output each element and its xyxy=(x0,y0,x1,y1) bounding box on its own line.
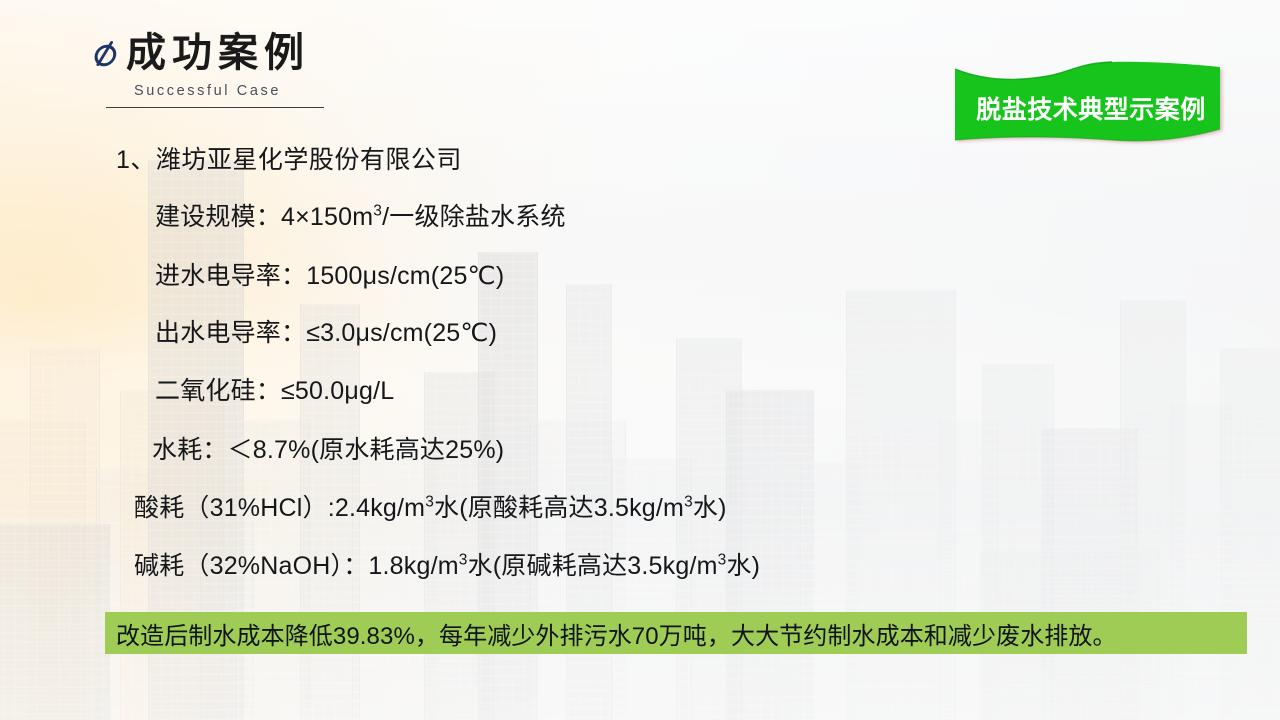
list-item-value: ≤50.0μg/L xyxy=(281,377,394,405)
slide-header: 成功案例 Successful Case xyxy=(94,32,324,108)
list-item: 进水电导率：1500μs/cm(25℃) xyxy=(155,256,504,292)
list-item-value: 4×150m3/一级除盐水系统 xyxy=(281,203,566,231)
list-item: 出水电导率：≤3.0μs/cm(25℃) xyxy=(155,313,497,349)
list-item-separator: ： xyxy=(202,436,227,464)
list-item: 建设规模：4×150m3/一级除盐水系统 xyxy=(155,197,566,233)
page-subtitle: Successful Case xyxy=(134,83,324,99)
list-item-value: ＜8.7%(原水耗高达25%) xyxy=(228,436,505,464)
list-item-label: 建设规模 xyxy=(155,203,256,231)
list-item: 酸耗（31%HCl）:2.4kg/m3水(原酸耗高达3.5kg/m3水) xyxy=(134,488,727,524)
list-item-value: ≤3.0μs/cm(25℃) xyxy=(306,319,497,347)
highlight-bar: 改造后制水成本降低39.83%，每年减少外排污水70万吨，大大节约制水成本和减少… xyxy=(105,612,1247,654)
list-item-value: 1.8kg/m3水(原碱耗高达3.5kg/m3水) xyxy=(368,552,760,580)
list-item-label: 出水电导率 xyxy=(155,319,281,347)
list-item-label: 酸耗（31%HCl） xyxy=(134,494,328,522)
list-item-label: 碱耗（32%NaOH） xyxy=(134,552,343,580)
list-item: 二氧化硅：≤50.0μg/L xyxy=(155,371,394,407)
slide-canvas: 成功案例 Successful Case 脱盐技术典型示案例 1、潍坊亚星化学股… xyxy=(0,0,1280,720)
list-item: 碱耗（32%NaOH）：1.8kg/m3水(原碱耗高达3.5kg/m3水) xyxy=(134,546,760,582)
title-divider xyxy=(106,107,324,108)
list-item-separator: : xyxy=(328,494,335,522)
list-item-separator: ： xyxy=(281,319,306,347)
page-title: 成功案例 xyxy=(126,32,310,74)
ribbon-banner: 脱盐技术典型示案例 xyxy=(952,55,1230,147)
slashed-circle-icon xyxy=(94,36,122,70)
list-item-separator: ： xyxy=(281,262,306,290)
list-item-label: 二氧化硅 xyxy=(155,377,256,405)
list-heading: 1、潍坊亚星化学股份有限公司 xyxy=(116,140,462,176)
list-item-separator: ： xyxy=(256,377,281,405)
list-item-label: 进水电导率 xyxy=(155,262,281,290)
list-item-separator: ： xyxy=(343,552,368,580)
title-row: 成功案例 xyxy=(94,32,324,74)
ribbon-banner-label: 脱盐技术典型示案例 xyxy=(952,90,1230,126)
list-item-label: 水耗 xyxy=(152,436,202,464)
list-item-value: 2.4kg/m3水(原酸耗高达3.5kg/m3水) xyxy=(335,494,727,522)
list-item-value: 1500μs/cm(25℃) xyxy=(306,262,504,290)
highlight-bar-text: 改造后制水成本降低39.83%，每年减少外排污水70万吨，大大节约制水成本和减少… xyxy=(105,616,1117,651)
list-item-separator: ： xyxy=(256,203,281,231)
list-item: 水耗：＜8.7%(原水耗高达25%) xyxy=(152,430,504,466)
